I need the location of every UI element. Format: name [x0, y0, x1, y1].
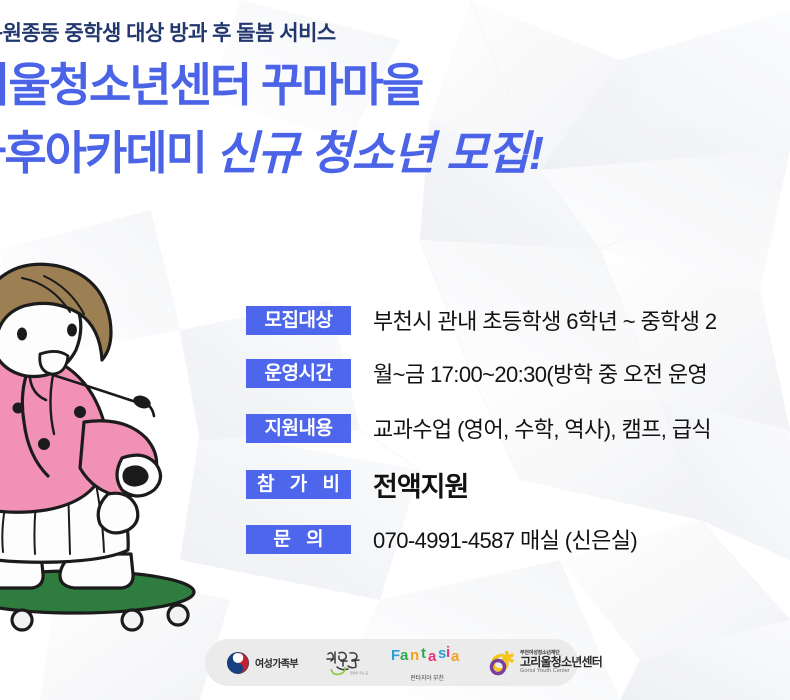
title-line-2-plain: 과후아카데미 [0, 127, 206, 179]
logo-goriul-text: 부천여성청소년재단 고리울청소년센터 Goriul Youth Center [520, 651, 602, 675]
partner-logo-bar: 여성가족부 행복을 주는 공감 [205, 639, 578, 686]
poster-root: 동+원종동 중학생 대상 방과 후 돌봄 서비스 리울청소년센터 꾸마마을 과후… [0, 0, 790, 700]
svg-text:a: a [400, 647, 409, 664]
svg-text:F: F [391, 647, 400, 664]
kicker-text: 동+원종동 중학생 대상 방과 후 돌봄 서비스 [0, 17, 336, 47]
info-row-participation-fee: 참 가 비 전액지원 [246, 454, 790, 514]
girl-on-skateboard-illustration [0, 262, 226, 634]
logo-haengbokgonggam: 행복을 주는 공감 [324, 648, 368, 678]
info-label-badge: 모집대상 [246, 306, 351, 335]
logo-fantasia-sublabel: 판타지아 부천 [390, 673, 464, 682]
title-line-1: 리울청소년센터 꾸마마을 [0, 62, 422, 108]
info-row-support-content: 지원내용 교과수업 (영어, 수학, 역사), 캠프, 급식 [246, 402, 790, 454]
info-value: 월~금 17:00~20:30(방학 중 오전 운영 [373, 357, 707, 389]
logo-goriul: 부천여성청소년재단 고리울청소년센터 Goriul Youth Center [488, 649, 602, 677]
handwritten-logo-icon: 행복을 주는 공감 [324, 648, 368, 678]
svg-text:i: i [446, 644, 450, 661]
svg-text:n: n [410, 647, 419, 664]
info-row-recruitment-target: 모집대상 부천시 관내 초등학생 6학년 ~ 중학생 2 [246, 296, 790, 344]
info-label-badge: 운영시간 [246, 359, 351, 388]
info-value: 070-4991-4587 매실 (신은실) [373, 523, 637, 555]
info-value: 교과수업 (영어, 수학, 역사), 캠프, 급식 [373, 412, 711, 444]
svg-text:a: a [451, 648, 460, 665]
title-line-2: 과후아카데미신규 청소년 모집! [0, 130, 543, 176]
title-line-2-emphasis: 신규 청소년 모집! [206, 127, 543, 179]
svg-text:t: t [421, 645, 426, 662]
info-row-inquiry: 문 의 070-4991-4587 매실 (신은실) [246, 514, 790, 564]
logo-goriul-sublabel: Goriul Youth Center [520, 669, 602, 675]
info-row-operating-hours: 운영시간 월~금 17:00~20:30(방학 중 오전 운영 [246, 344, 790, 402]
taegeuk-emblem-icon [227, 652, 249, 674]
logo-mogef-label: 여성가족부 [255, 655, 298, 670]
svg-text:행복을 주는 공감: 행복을 주는 공감 [350, 670, 368, 675]
info-table: 모집대상 부천시 관내 초등학생 6학년 ~ 중학생 2 운영시간 월~금 17… [246, 296, 790, 564]
logo-goriul-label: 고리울청소년센터 [520, 656, 602, 669]
svg-text:s: s [438, 645, 446, 662]
svg-text:a: a [428, 648, 437, 665]
info-value: 부천시 관내 초등학생 6학년 ~ 중학생 2 [373, 304, 717, 336]
info-label-badge: 문 의 [246, 525, 351, 554]
goriul-flower-icon [488, 649, 516, 677]
info-value: 전액지원 [373, 465, 468, 504]
fantasia-wordmark-icon: F a n t a s i a [390, 643, 464, 667]
logo-mogef: 여성가족부 [227, 652, 298, 674]
info-label-badge: 참 가 비 [246, 470, 351, 499]
info-label-badge: 지원내용 [246, 414, 351, 443]
logo-fantasia: F a n t a s i a 판타지아 부천 [390, 643, 464, 682]
